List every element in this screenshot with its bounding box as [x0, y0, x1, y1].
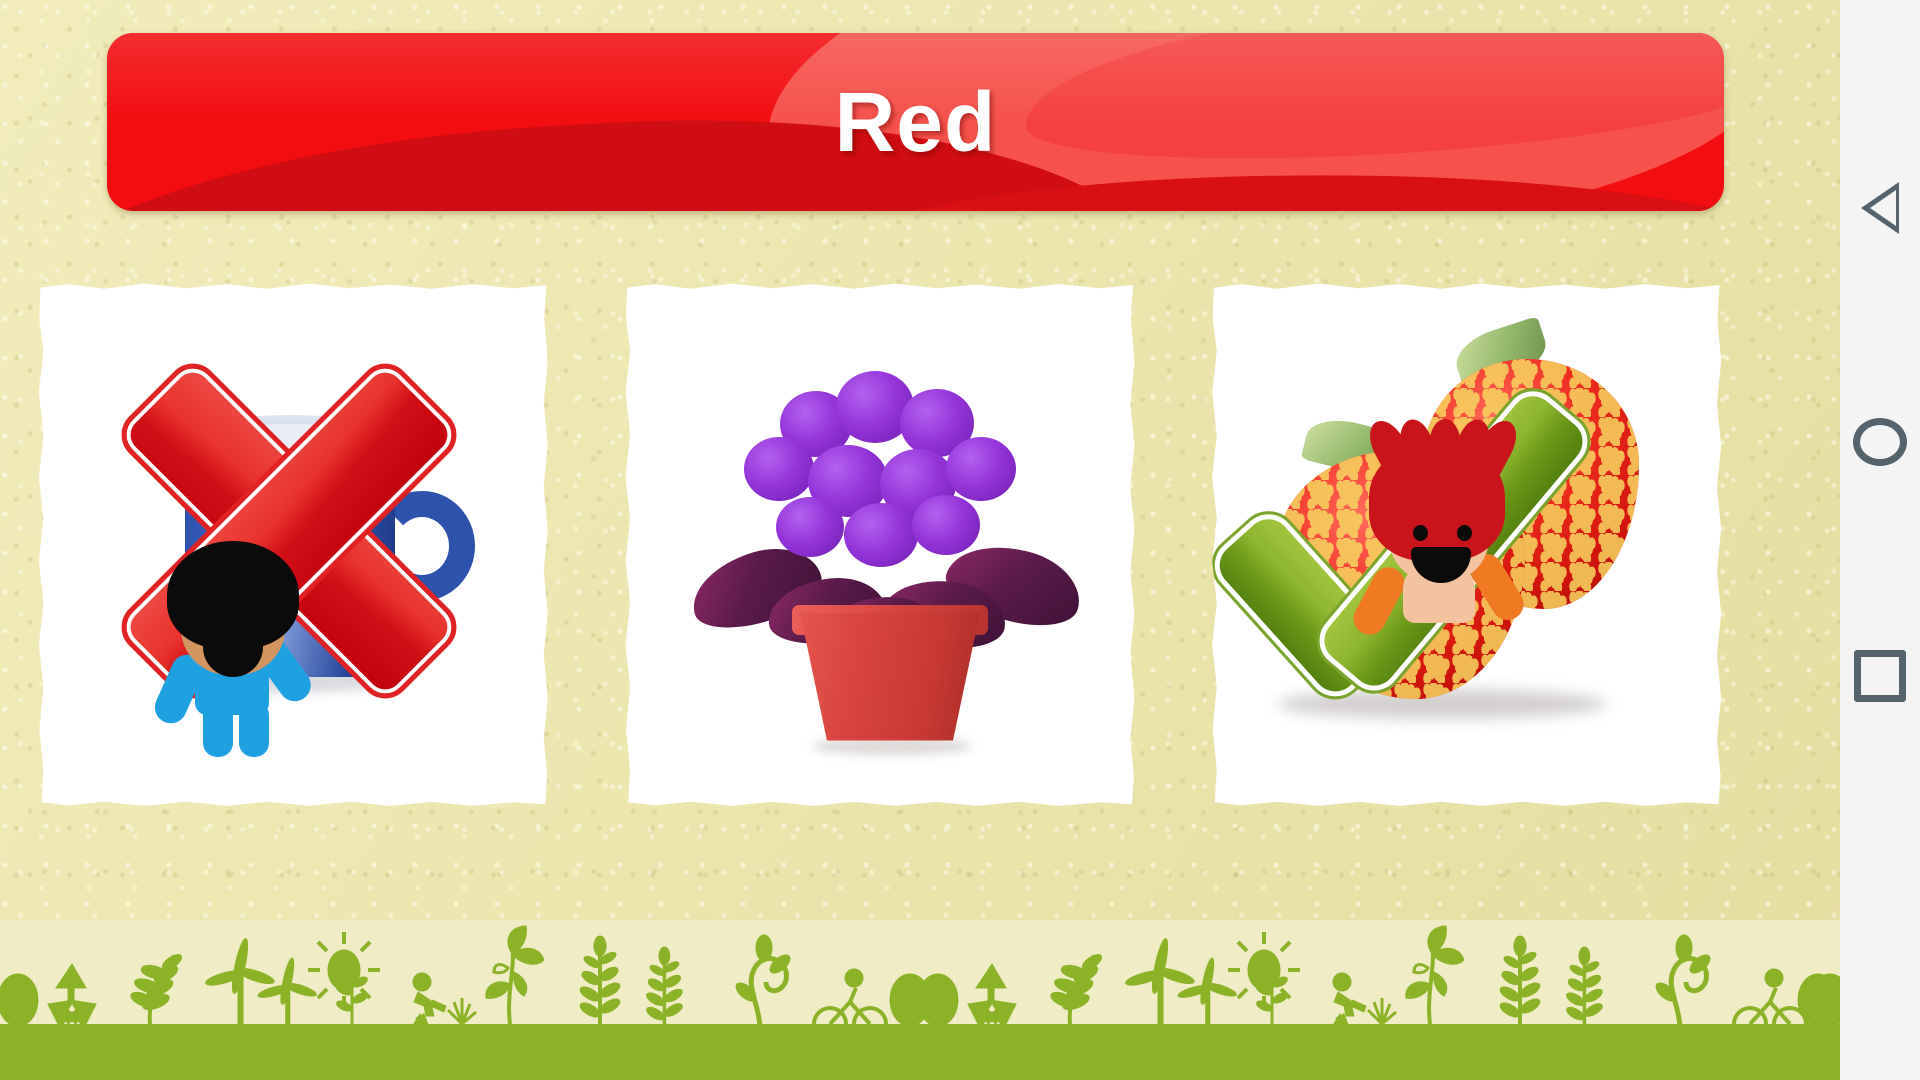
violet-flower-8: [776, 497, 844, 557]
girl-hair: [1369, 443, 1505, 561]
boy-hair: [167, 541, 299, 649]
girl-right-eye: [1457, 525, 1472, 541]
boy-right-eye: [247, 619, 262, 635]
answer-cards-row: [0, 280, 1760, 810]
answer-card-purple-violet[interactable]: [624, 283, 1136, 808]
android-navigation-bar: [1840, 0, 1920, 1080]
girl-left-eye: [1413, 525, 1428, 541]
boy-character-icon: [155, 541, 315, 721]
app-root: Red: [0, 0, 1920, 1080]
nav-recents-button[interactable]: [1852, 648, 1908, 704]
home-circle-icon: [1853, 418, 1907, 466]
card-photo-strawberries: [1211, 283, 1723, 808]
recents-square-icon: [1854, 650, 1906, 702]
nav-home-button[interactable]: [1852, 414, 1908, 470]
eco-decoration-border: [0, 920, 1840, 1080]
answer-card-strawberries[interactable]: [1211, 283, 1723, 808]
nav-back-button[interactable]: [1852, 180, 1908, 236]
eco-motif-row: [0, 926, 1840, 1050]
back-triangle-icon: [1861, 182, 1899, 234]
game-stage: Red: [0, 0, 1840, 1080]
boy-left-eye: [203, 619, 218, 635]
title-banner: Red: [107, 33, 1724, 211]
page-title: Red: [107, 33, 1724, 211]
violet-flower-10: [912, 495, 980, 555]
answer-card-blue-mug[interactable]: [37, 283, 549, 808]
card-photo-purple-violet: [624, 283, 1136, 808]
violet-flower-9: [844, 503, 918, 567]
african-violet-illustration: [684, 341, 1084, 741]
girl-character-icon: [1359, 441, 1519, 621]
card-photo-blue-mug: [37, 283, 549, 808]
violet-flower-7: [946, 437, 1016, 501]
violet-flower-4: [744, 437, 814, 501]
violet-pot-body: [800, 613, 980, 741]
eco-motif-artwork: [0, 920, 1840, 1080]
